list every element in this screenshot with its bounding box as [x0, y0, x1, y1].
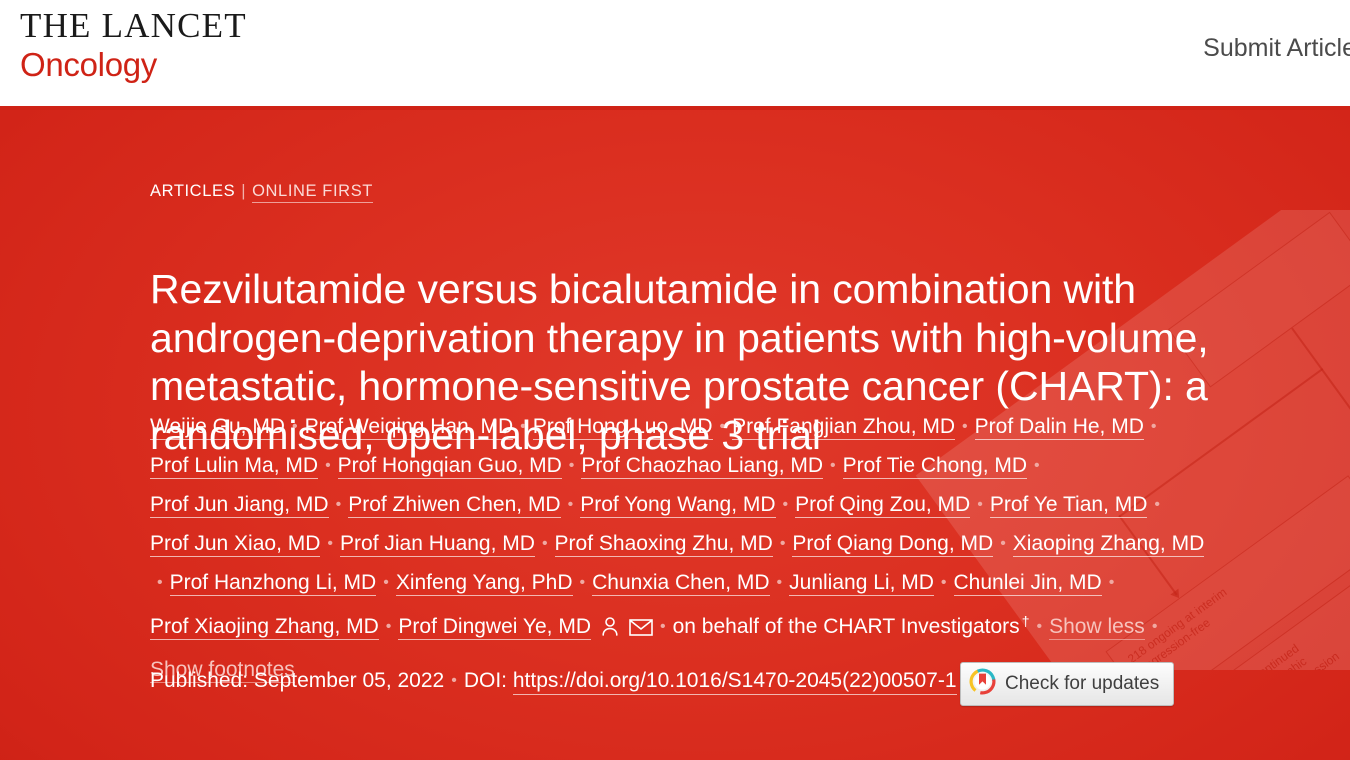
author-separator-bullet: •	[777, 563, 783, 602]
doi-link[interactable]: https://doi.org/10.1016/S1470-2045(22)00…	[513, 669, 957, 695]
show-less-link[interactable]: Show less	[1049, 615, 1145, 640]
author-link[interactable]: Prof Lulin Ma, MD	[150, 454, 318, 479]
article-hero: 3 218 ongoing at interim progression-fre…	[0, 110, 1350, 760]
author-link[interactable]: Prof Zhiwen Chen, MD	[348, 493, 560, 518]
art-connector	[1291, 328, 1350, 420]
author-link[interactable]: Prof Shaoxing Zhu, MD	[555, 532, 773, 557]
author-separator-bullet: •	[941, 563, 947, 602]
crossmark-logo-icon	[969, 668, 996, 700]
author-separator-bullet: •	[580, 563, 586, 602]
author-profile-icon[interactable]	[600, 611, 620, 650]
author-separator-bullet: •	[830, 446, 836, 485]
author-separator-bullet: •	[520, 407, 526, 446]
author-link[interactable]: Chunxia Chen, MD	[592, 571, 769, 596]
author-link[interactable]: Prof Dalin He, MD	[975, 415, 1144, 440]
author-separator-bullet: •	[568, 485, 574, 524]
author-list: Weijie Gu, MD•Prof Weiqing Han, MD•Prof …	[150, 407, 1220, 689]
publication-info: Published: September 05, 2022•DOI: https…	[150, 666, 976, 696]
author-link[interactable]: Xiaoping Zhang, MD	[1013, 532, 1204, 557]
author-link[interactable]: Prof Ye Tian, MD	[990, 493, 1148, 518]
author-link[interactable]: Prof Hong Luo, MD	[533, 415, 713, 440]
author-link[interactable]: Prof Qiang Dong, MD	[792, 532, 993, 557]
lancet-oncology-logo[interactable]: THE LANCET Oncology	[20, 8, 247, 81]
author-separator-bullet: •	[383, 563, 389, 602]
art-box-discontinued	[1207, 495, 1350, 670]
corresponding-author-link[interactable]: Prof Dingwei Ye, MD	[398, 615, 591, 640]
kicker-section: ARTICLES	[150, 182, 235, 200]
author-link[interactable]: Junliang Li, MD	[789, 571, 934, 596]
author-separator-bullet: •	[962, 407, 968, 446]
author-link[interactable]: Prof Yong Wang, MD	[580, 493, 775, 518]
author-separator-bullet: •	[1034, 446, 1040, 485]
check-for-updates-label: Check for updates	[1005, 673, 1159, 695]
art-box-discontinued-text: 27 discontinued 13 radiographic 8 clinic…	[1225, 508, 1350, 670]
author-separator-bullet: •	[325, 446, 331, 485]
group-credit: on behalf of the CHART Investigators†	[673, 615, 1030, 638]
author-separator-bullet: •	[1151, 407, 1157, 446]
author-separator-bullet: •	[1109, 563, 1115, 602]
author-separator-bullet: •	[336, 485, 342, 524]
author-separator-bullet: •	[292, 407, 298, 446]
check-for-updates-button[interactable]: Check for updates	[960, 662, 1174, 706]
brand-the-lancet: THE LANCET	[20, 8, 247, 43]
submit-article-link[interactable]: Submit Article	[1203, 34, 1350, 63]
author-link[interactable]: Prof Weiqing Han, MD	[305, 415, 514, 440]
author-separator-bullet: •	[542, 524, 548, 563]
author-link[interactable]: Prof Jun Jiang, MD	[150, 493, 329, 518]
author-separator-bullet: •	[1036, 607, 1042, 646]
author-separator-bullet: •	[783, 485, 789, 524]
site-header: THE LANCET Oncology Submit Article	[0, 0, 1350, 110]
published-label: Published:	[150, 669, 248, 692]
author-link[interactable]: Prof Fangjian Zhou, MD	[732, 415, 955, 440]
author-link[interactable]: Xinfeng Yang, PhD	[396, 571, 573, 596]
doi-label: DOI:	[464, 669, 507, 692]
author-separator-bullet: •	[720, 407, 726, 446]
author-link[interactable]: Prof Qing Zou, MD	[795, 493, 970, 518]
author-link[interactable]: Weijie Gu, MD	[150, 415, 285, 440]
author-separator-bullet: •	[327, 524, 333, 563]
pubinfo-separator-bullet: •	[451, 666, 457, 696]
author-separator-bullet: •	[780, 524, 786, 563]
author-separator-bullet: •	[157, 563, 163, 602]
kicker-separator: |	[241, 182, 246, 200]
article-landing-page: THE LANCET Oncology Submit Article 3 218…	[0, 0, 1350, 760]
kicker-online-first[interactable]: ONLINE FIRST	[252, 182, 373, 203]
brand-oncology: Oncology	[20, 48, 247, 81]
author-separator-bullet: •	[660, 607, 666, 646]
author-separator-bullet: •	[977, 485, 983, 524]
author-link[interactable]: Prof Tie Chong, MD	[843, 454, 1027, 479]
author-separator-bullet: •	[569, 446, 575, 485]
author-separator-bullet: •	[386, 607, 392, 646]
footnote-dagger-marker[interactable]: †	[1022, 613, 1030, 629]
author-link[interactable]: Prof Jun Xiao, MD	[150, 532, 320, 557]
author-link[interactable]: Prof Hongqian Guo, MD	[338, 454, 562, 479]
author-separator-bullet: •	[1152, 607, 1158, 646]
author-link[interactable]: Prof Hanzhong Li, MD	[170, 571, 377, 596]
author-link[interactable]: Prof Jian Huang, MD	[340, 532, 535, 557]
author-email-icon[interactable]	[629, 611, 653, 650]
published-date: September 05, 2022	[254, 669, 444, 692]
author-separator-bullet: •	[1154, 485, 1160, 524]
author-link[interactable]: Chunlei Jin, MD	[954, 571, 1102, 596]
group-credit-text: on behalf of the CHART Investigators	[673, 615, 1020, 638]
author-link[interactable]: Prof Chaozhao Liang, MD	[581, 454, 823, 479]
author-separator-bullet: •	[1000, 524, 1006, 563]
article-kicker: ARTICLES|ONLINE FIRST	[150, 182, 373, 201]
author-link[interactable]: Prof Xiaojing Zhang, MD	[150, 615, 379, 640]
